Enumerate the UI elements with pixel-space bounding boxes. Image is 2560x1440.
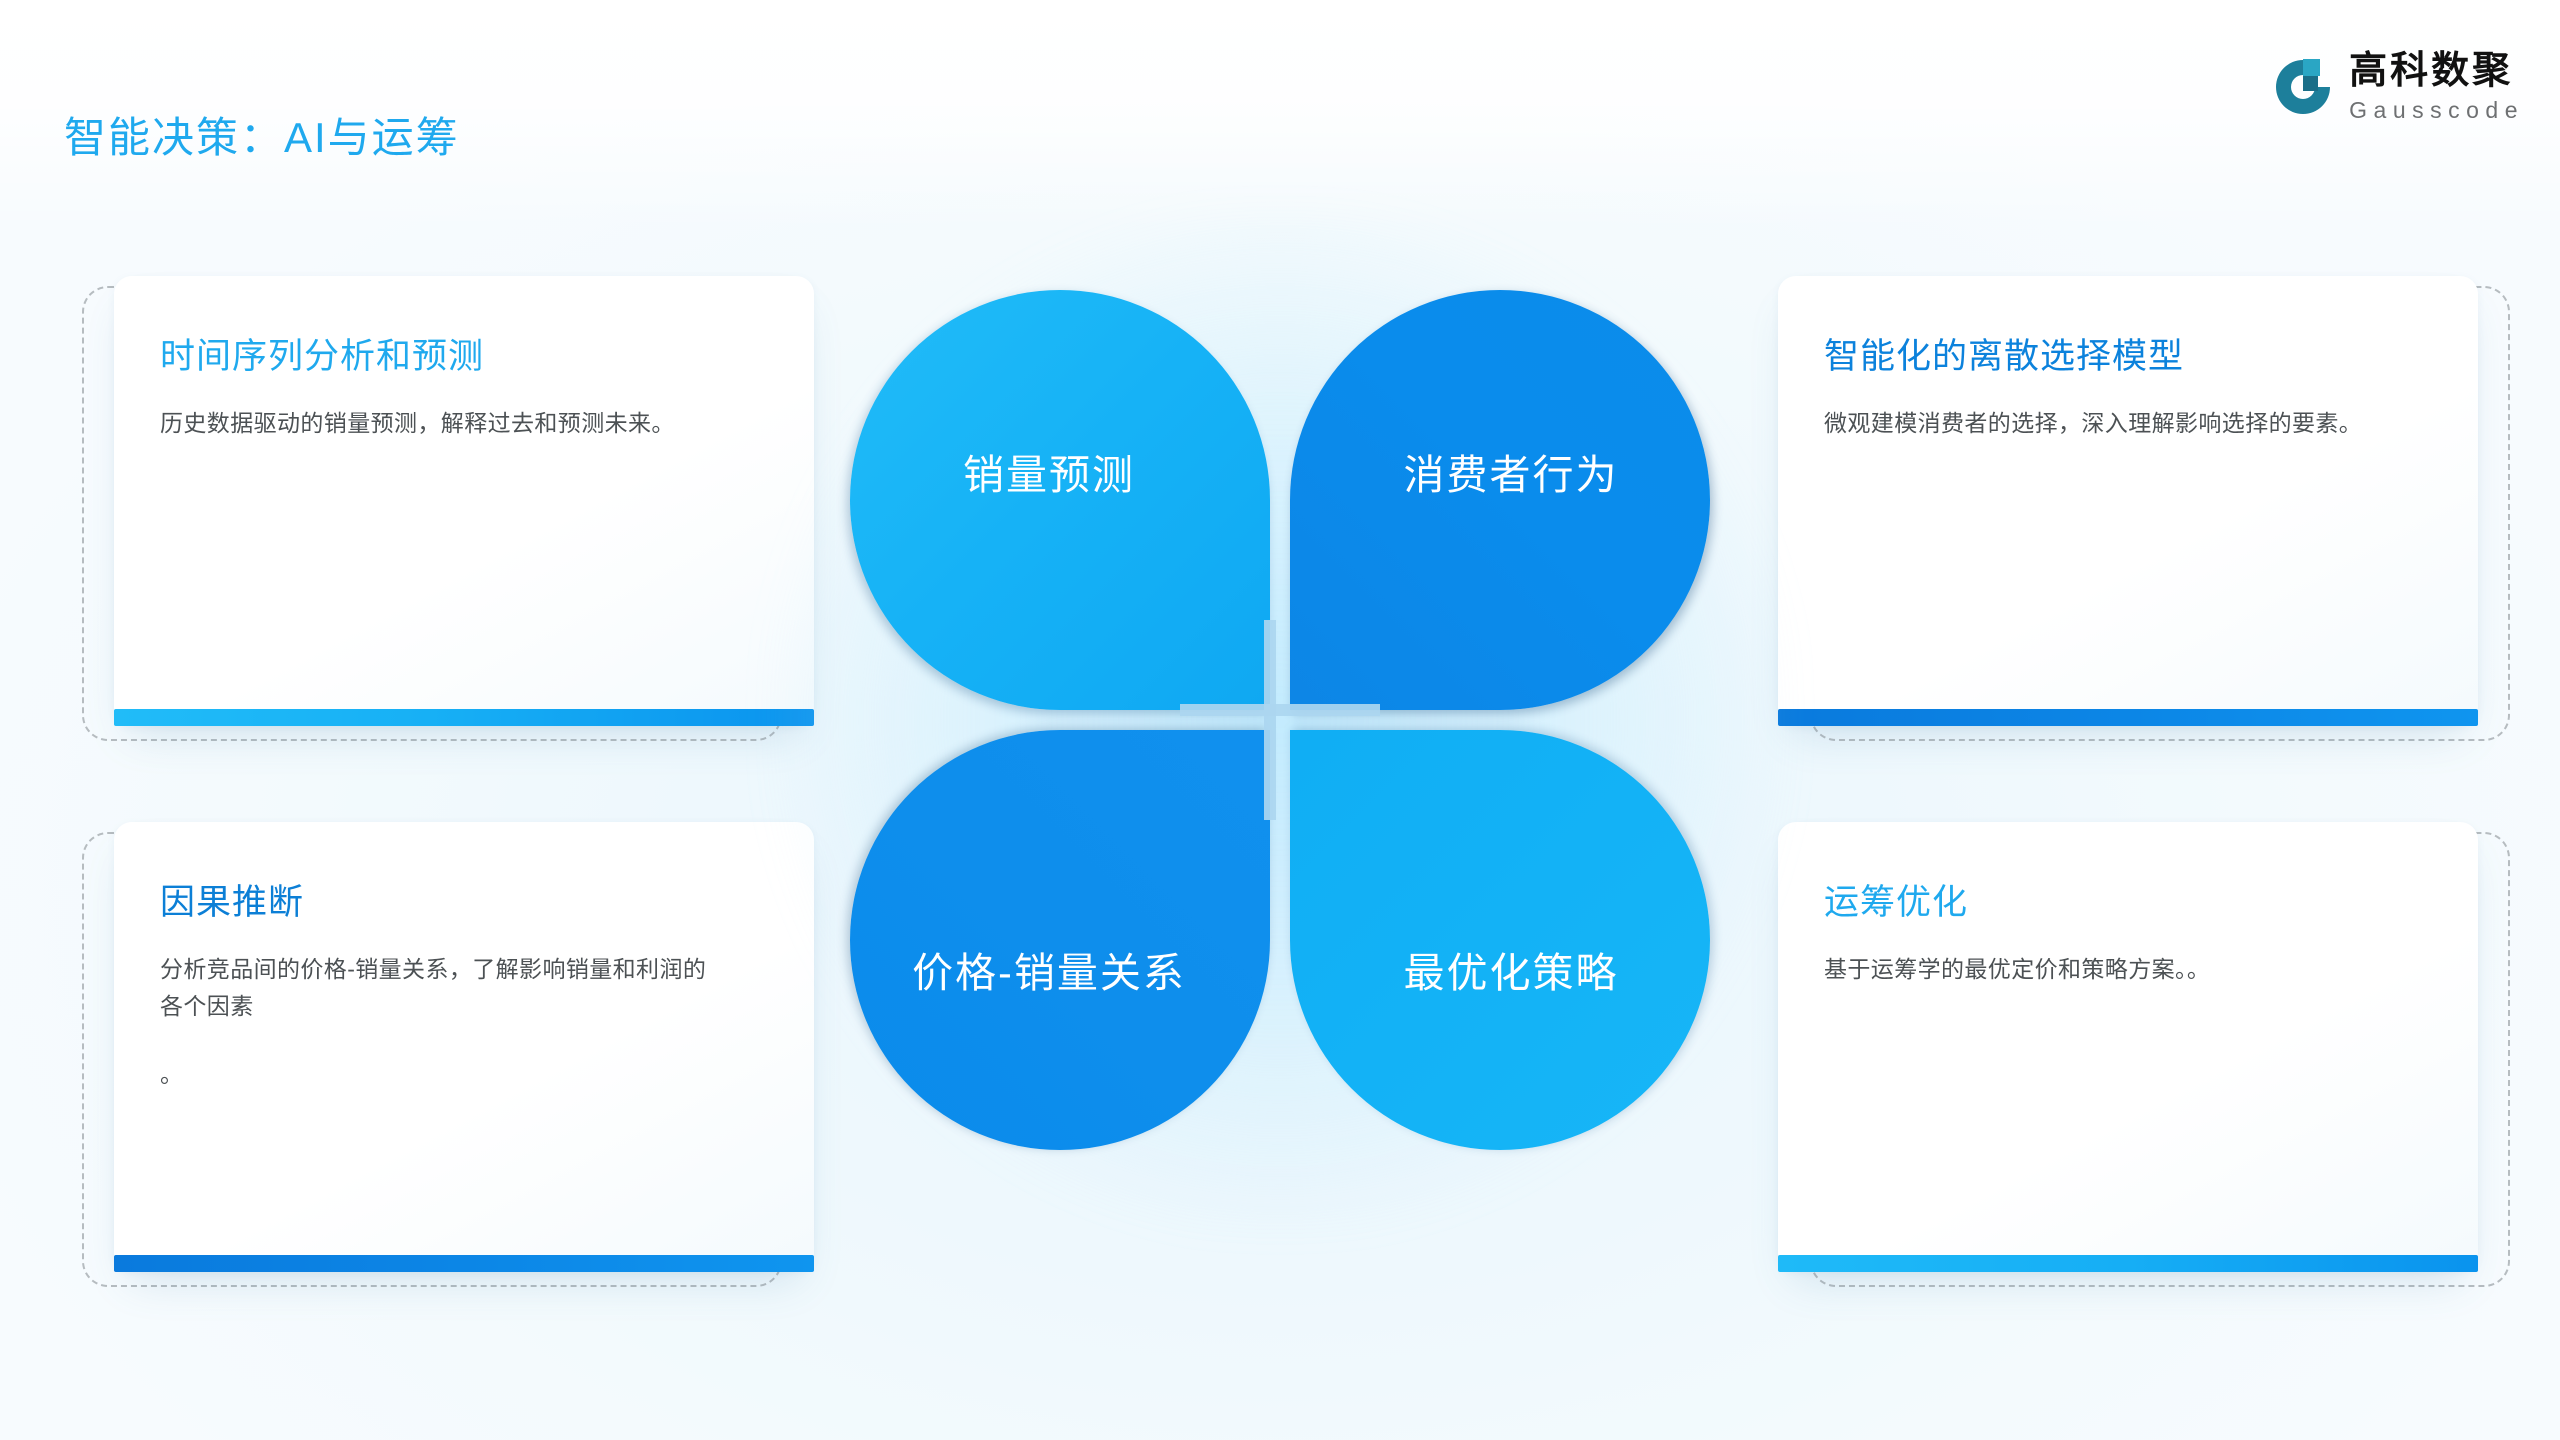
petal-consumer-behavior[interactable]: 消费者行为: [1290, 290, 1710, 710]
card-surface: 运筹优化 基于运筹学的最优定价和策略方案。。: [1778, 822, 2478, 1272]
card-time-series[interactable]: 时间序列分析和预测 历史数据驱动的销量预测，解释过去和预测未来。: [82, 286, 782, 741]
brand-logo: 高科数聚 Gausscode: [2273, 52, 2524, 122]
card-causal-inference[interactable]: 因果推断 分析竞品间的价格-销量关系，了解影响销量和利润的各个因素 。: [82, 832, 782, 1287]
card-body: 历史数据驱动的销量预测，解释过去和预测未来。: [160, 405, 720, 442]
card-accent-bar: [1778, 709, 2478, 726]
card-surface: 智能化的离散选择模型 微观建模消费者的选择，深入理解影响选择的要素。: [1778, 276, 2478, 726]
petal-optimal-strategy[interactable]: 最优化策略: [1290, 730, 1710, 1150]
slide-canvas: 智能决策：AI与运筹 高科数聚 Gausscode 时间序列分析和预测 历史数据…: [0, 0, 2560, 1440]
petal-label: 消费者行为: [1404, 441, 1619, 501]
brand-wordmark: 高科数聚 Gausscode: [2349, 52, 2524, 122]
card-surface: 因果推断 分析竞品间的价格-销量关系，了解影响销量和利润的各个因素 。: [114, 822, 814, 1272]
card-body: 微观建模消费者的选择，深入理解影响选择的要素。: [1824, 405, 2384, 442]
card-operations-optimization[interactable]: 运筹优化 基于运筹学的最优定价和策略方案。。: [1810, 832, 2510, 1287]
card-title: 时间序列分析和预测: [160, 328, 768, 379]
card-title: 因果推断: [160, 874, 768, 925]
card-body: 基于运筹学的最优定价和策略方案。。: [1824, 951, 2384, 988]
petal-label: 价格-销量关系: [912, 939, 1186, 999]
card-accent-bar: [1778, 1255, 2478, 1272]
gausscode-ring-logo-icon: [2273, 57, 2333, 117]
card-title: 智能化的离散选择模型: [1824, 328, 2432, 379]
card-body-extra: 。: [160, 1056, 768, 1093]
card-surface: 时间序列分析和预测 历史数据驱动的销量预测，解释过去和预测未来。: [114, 276, 814, 726]
page-title: 智能决策：AI与运筹: [64, 104, 460, 165]
brand-name-en: Gausscode: [2349, 99, 2524, 122]
petal-label: 最优化策略: [1404, 939, 1619, 999]
card-discrete-choice[interactable]: 智能化的离散选择模型 微观建模消费者的选择，深入理解影响选择的要素。: [1810, 286, 2510, 741]
flower-diagram: 销量预测 消费者行为 价格-销量关系 最优化策略: [850, 290, 1710, 1150]
card-accent-bar: [114, 1255, 814, 1272]
petal-price-sales-relation[interactable]: 价格-销量关系: [850, 730, 1270, 1150]
card-title: 运筹优化: [1824, 874, 2432, 925]
card-body: 分析竞品间的价格-销量关系，了解影响销量和利润的各个因素: [160, 951, 720, 1026]
petal-label: 销量预测: [963, 441, 1135, 501]
card-accent-bar: [114, 709, 814, 726]
petal-sales-forecast[interactable]: 销量预测: [850, 290, 1270, 710]
brand-name-cn: 高科数聚: [2349, 52, 2524, 90]
